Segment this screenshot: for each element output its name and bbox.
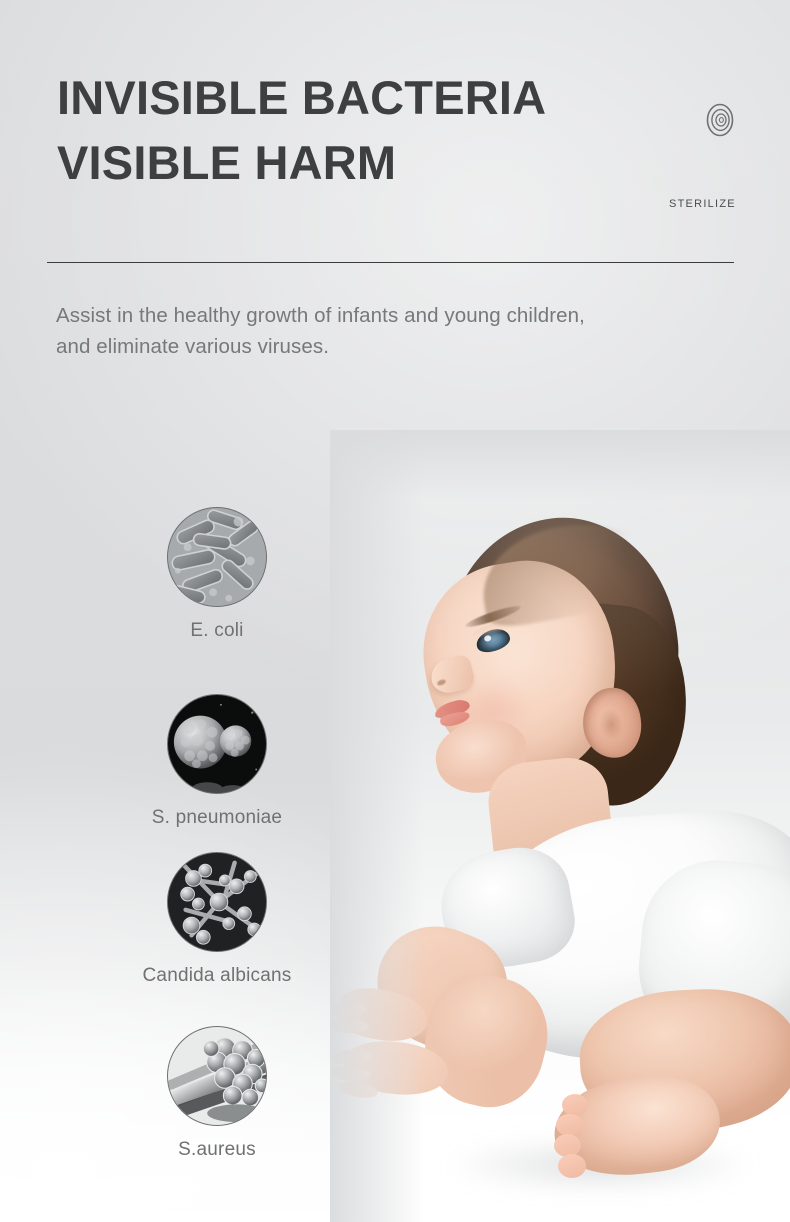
list-item-label: E. coli bbox=[190, 620, 243, 642]
subheading-line-1: Assist in the healthy growth of infants … bbox=[56, 300, 756, 331]
title-line-2: VISIBLE HARM bbox=[57, 131, 697, 196]
product-poster: INVISIBLE BACTERIA VISIBLE HARM STERILIZ… bbox=[0, 0, 790, 1222]
list-item-label: Candida albicans bbox=[143, 965, 292, 987]
subheading: Assist in the healthy growth of infants … bbox=[56, 300, 756, 362]
list-item-label: S.aureus bbox=[178, 1139, 256, 1161]
title-line-1: INVISIBLE BACTERIA bbox=[57, 66, 697, 131]
toe bbox=[556, 1114, 583, 1136]
concentric-rings-sterilize-icon bbox=[703, 102, 737, 138]
brand-label: STERILIZE bbox=[669, 198, 736, 210]
candida-micrograph-icon bbox=[167, 852, 267, 952]
saureus-micrograph-icon bbox=[167, 1026, 267, 1126]
list-item: E. coli bbox=[0, 507, 434, 642]
list-item: Candida albicans bbox=[0, 852, 434, 987]
toe bbox=[562, 1094, 588, 1116]
list-item-label: S. pneumoniae bbox=[152, 807, 282, 829]
pneumoniae-micrograph-icon bbox=[167, 694, 267, 794]
ecoli-micrograph-icon bbox=[167, 507, 267, 607]
toe bbox=[558, 1154, 586, 1178]
list-item: S. pneumoniae bbox=[0, 694, 434, 829]
subheading-line-2: and eliminate various viruses. bbox=[56, 331, 756, 362]
page-title: INVISIBLE BACTERIA VISIBLE HARM bbox=[57, 66, 697, 196]
list-item: S.aureus bbox=[0, 1026, 434, 1161]
divider bbox=[47, 262, 734, 263]
